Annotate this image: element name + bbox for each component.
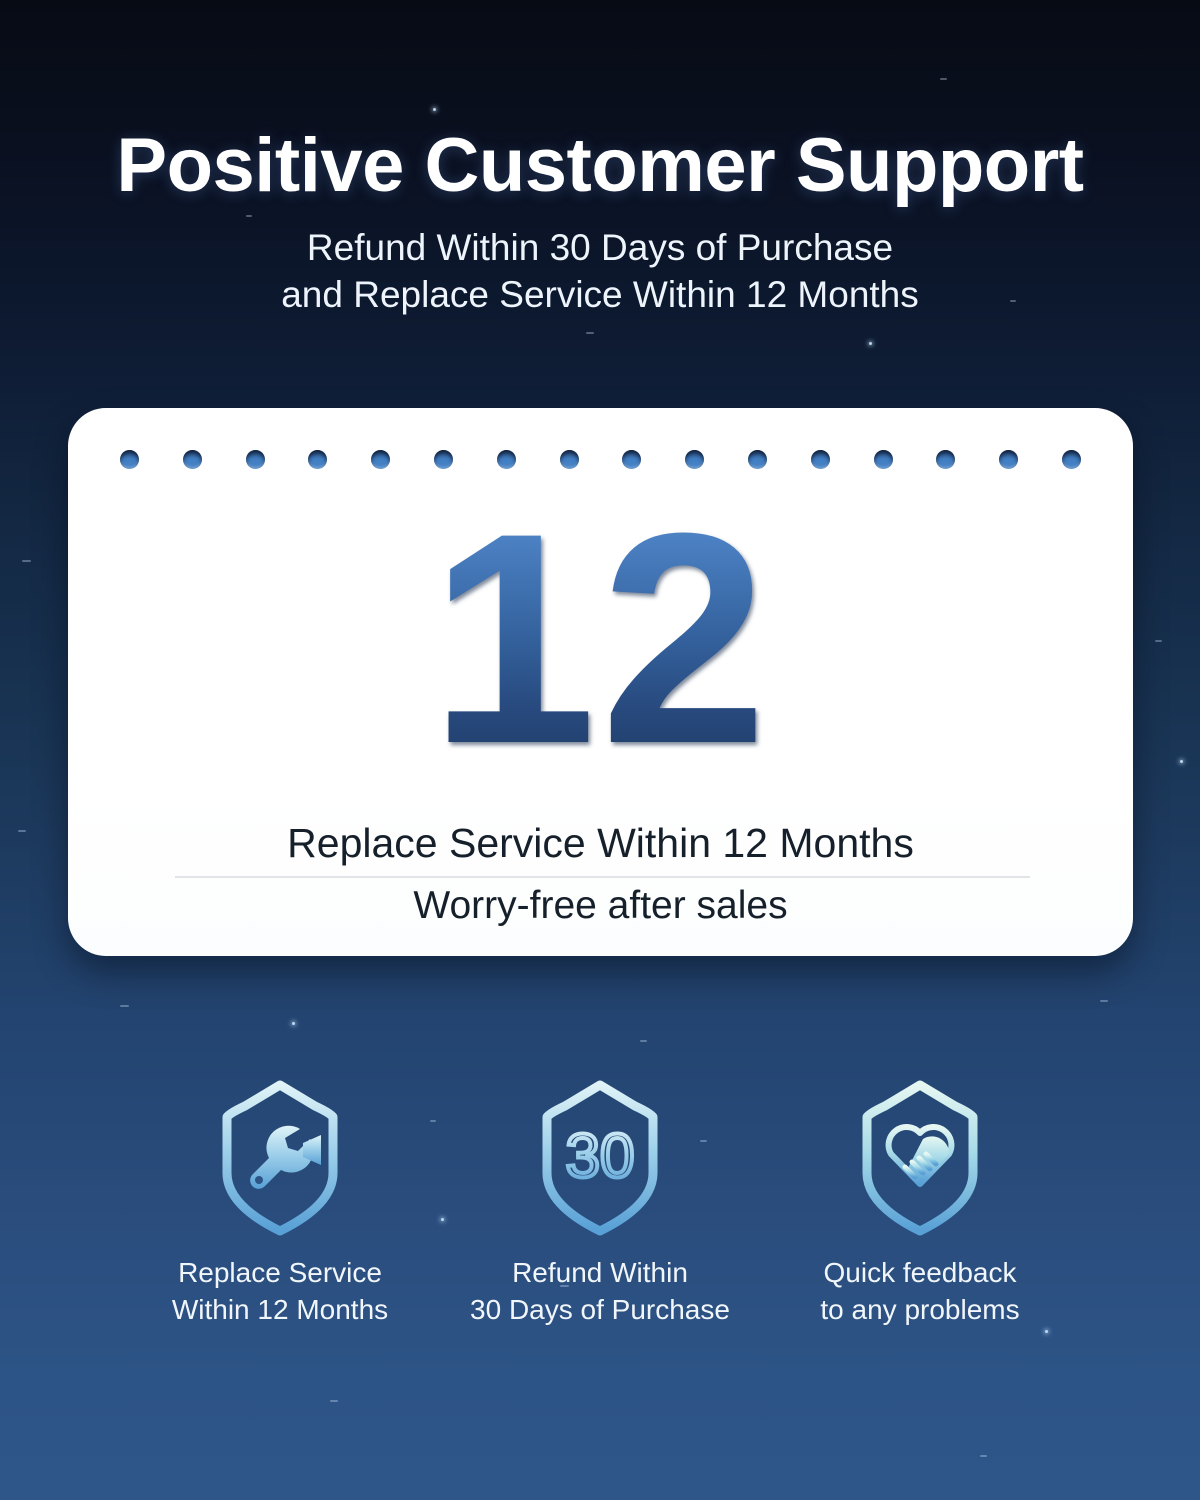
binder-dot: [308, 450, 327, 469]
page-subtitle: Refund Within 30 Days of Purchase and Re…: [0, 224, 1200, 319]
card-headline: Replace Service Within 12 Months: [68, 820, 1133, 867]
binder-dot: [685, 450, 704, 469]
subtitle-line-2: and Replace Service Within 12 Months: [0, 271, 1200, 318]
binder-dot-row: [120, 448, 1081, 470]
badge-caption: Quick feedback to any problems: [770, 1255, 1070, 1329]
badge-caption-line-2: 30 Days of Purchase: [450, 1292, 750, 1329]
shield-wrench-icon: [130, 1070, 430, 1245]
binder-dot: [874, 450, 893, 469]
binder-dot: [120, 450, 139, 469]
binder-dot: [999, 450, 1018, 469]
binder-dot: [497, 450, 516, 469]
shield-30-days-icon: 30: [450, 1070, 750, 1245]
binder-dot: [1062, 450, 1081, 469]
badge-quick-feedback: Quick feedback to any problems: [770, 1070, 1070, 1329]
card-divider: [175, 876, 1030, 878]
badge-caption-line-2: to any problems: [770, 1292, 1070, 1329]
card-subline: Worry-free after sales: [68, 884, 1133, 928]
badge-caption-line-1: Replace Service: [130, 1255, 430, 1292]
badge-caption-line-1: Refund Within: [450, 1255, 750, 1292]
binder-dot: [936, 450, 955, 469]
badge-caption: Replace Service Within 12 Months: [130, 1255, 430, 1329]
badge-caption-line-1: Quick feedback: [770, 1255, 1070, 1292]
binder-dot: [560, 450, 579, 469]
page-title: Positive Customer Support: [0, 128, 1200, 204]
shield-handshake-heart-icon: [770, 1070, 1070, 1245]
promo-poster: Positive Customer Support Refund Within …: [0, 0, 1200, 1500]
header: Positive Customer Support Refund Within …: [0, 0, 1200, 319]
binder-dot: [371, 450, 390, 469]
big-number: 12: [68, 488, 1133, 788]
badge-row: Replace Service Within 12 Months 30: [130, 1070, 1070, 1329]
binder-dot: [811, 450, 830, 469]
badge-refund-30-days: 30 Refund Within 30 Days of Purchase: [450, 1070, 750, 1329]
badge-caption-line-2: Within 12 Months: [130, 1292, 430, 1329]
binder-dot: [246, 450, 265, 469]
subtitle-line-1: Refund Within 30 Days of Purchase: [0, 224, 1200, 271]
binder-dot: [183, 450, 202, 469]
warranty-card: 12 Replace Service Within 12 Months Worr…: [68, 408, 1133, 956]
binder-dot: [434, 450, 453, 469]
binder-dot: [622, 450, 641, 469]
shield-number: 30: [566, 1122, 635, 1191]
badge-replace-service: Replace Service Within 12 Months: [130, 1070, 430, 1329]
binder-dot: [748, 450, 767, 469]
badge-caption: Refund Within 30 Days of Purchase: [450, 1255, 750, 1329]
